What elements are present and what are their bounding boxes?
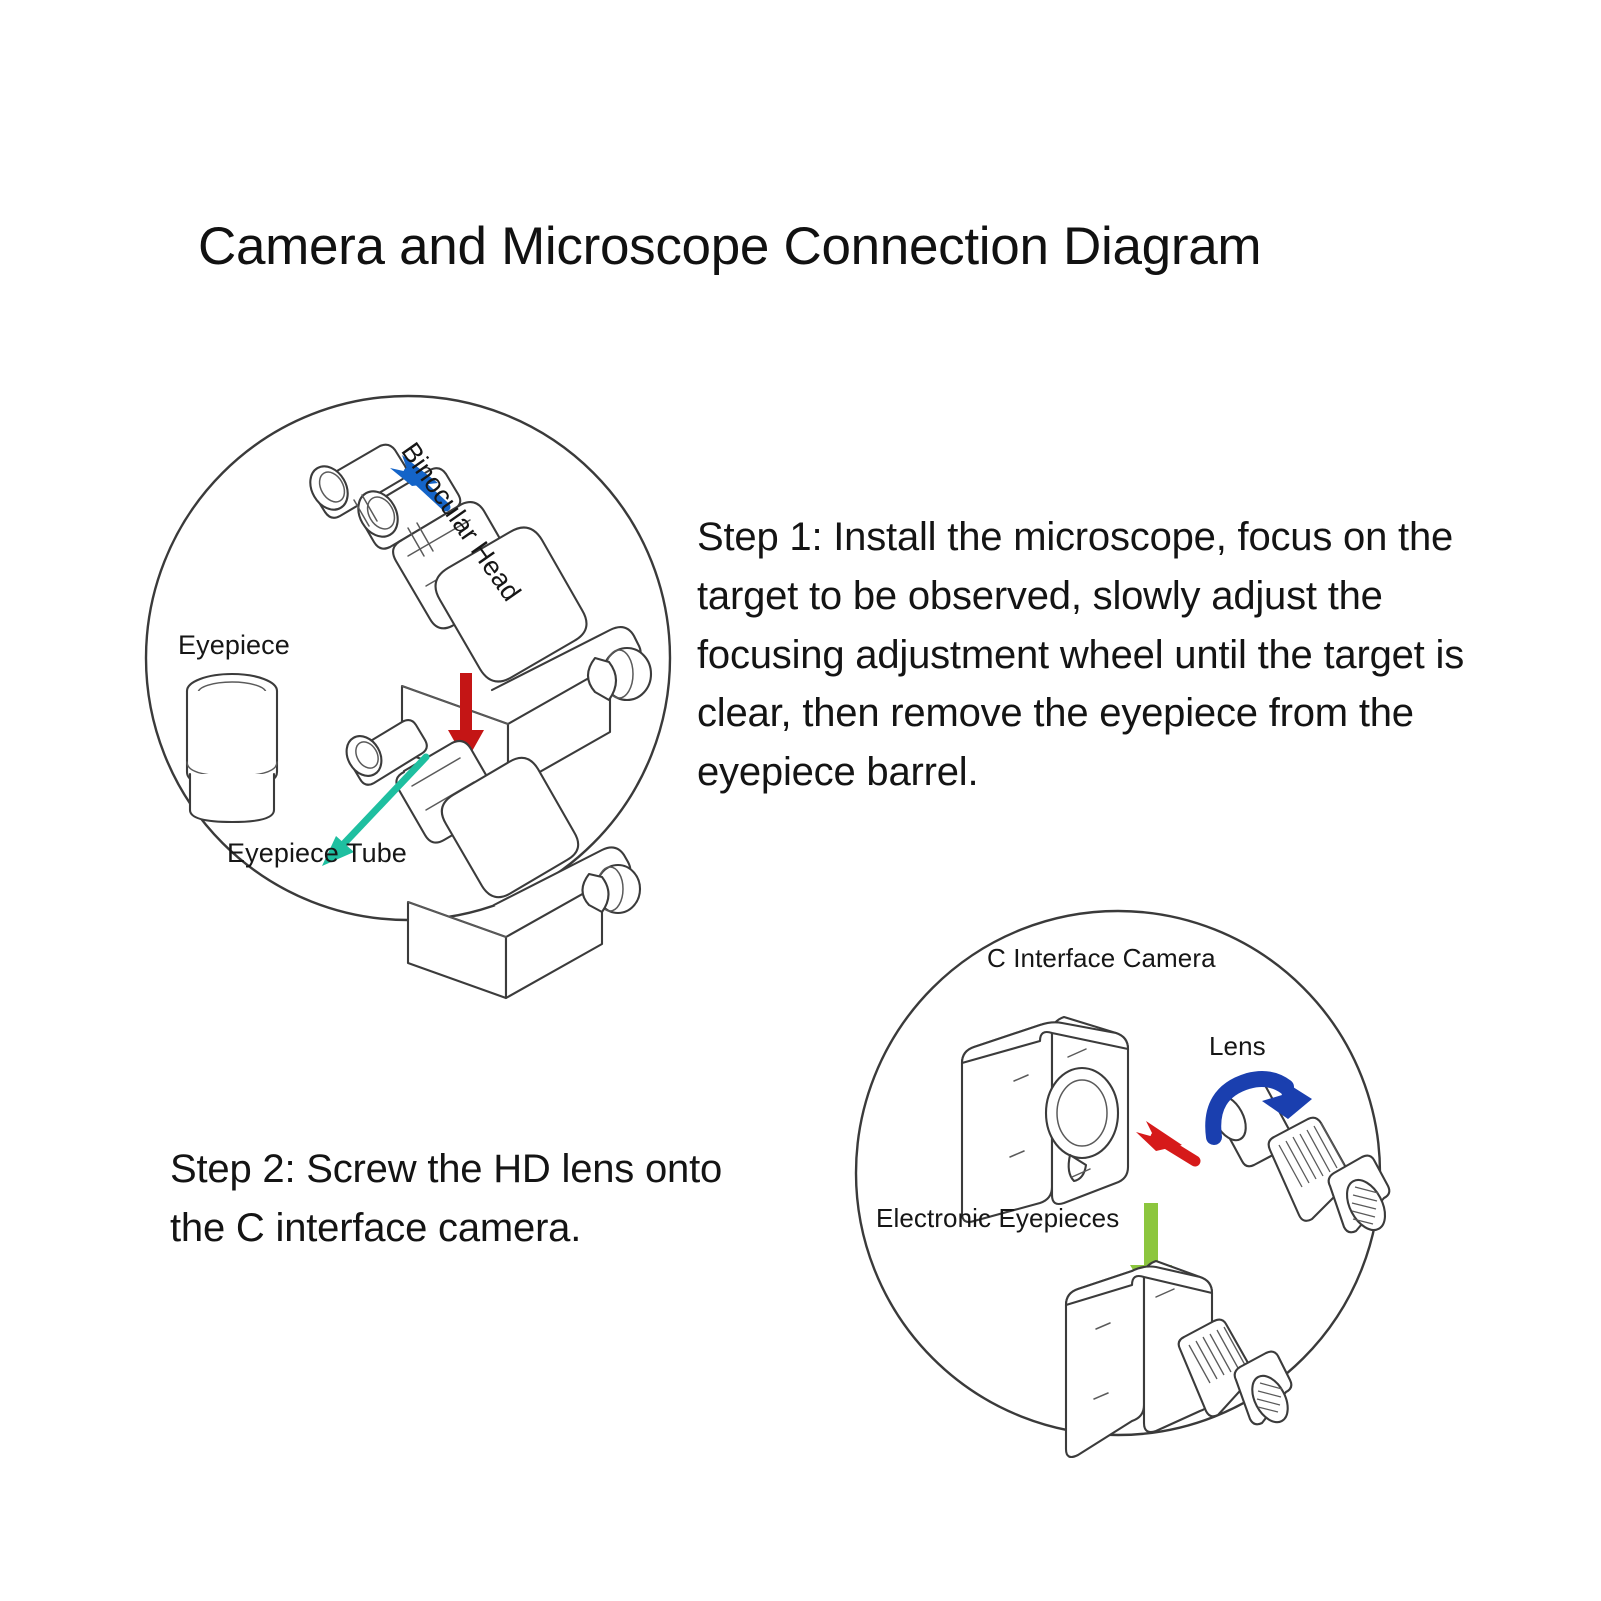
label-electronic-eyepieces: Electronic Eyepieces <box>876 1203 1119 1234</box>
step-1-text: Step 1: Install the microscope, focus on… <box>697 508 1527 802</box>
step-2-text: Step 2: Screw the HD lens onto the C int… <box>170 1140 730 1258</box>
label-eyepiece-tube: Eyepiece Tube <box>227 838 407 869</box>
label-c-interface-camera: C Interface Camera <box>987 943 1216 974</box>
attach-lens-arrow <box>1136 1121 1195 1161</box>
diagram-page: Camera and Microscope Connection Diagram <box>0 0 1601 1601</box>
camera-illustration <box>850 905 1390 1445</box>
label-lens: Lens <box>1209 1031 1266 1062</box>
panel-camera <box>850 905 1390 1445</box>
eyepiece-part <box>187 674 277 822</box>
page-title: Camera and Microscope Connection Diagram <box>198 216 1261 277</box>
c-interface-camera-body <box>962 1017 1128 1222</box>
label-eyepiece: Eyepiece <box>178 630 290 661</box>
